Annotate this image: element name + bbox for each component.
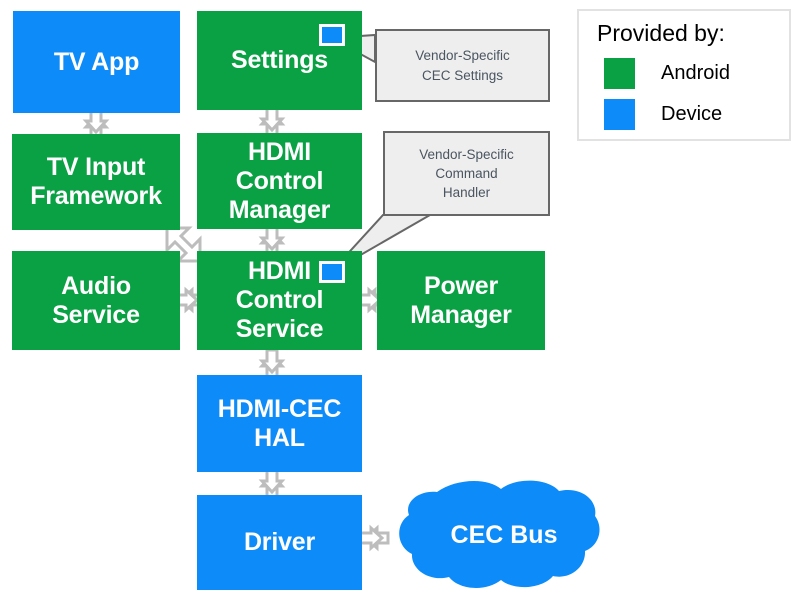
- legend-swatch-android: [604, 58, 635, 89]
- box-tv-input-framework[interactable]: TV Input Framework: [12, 134, 180, 230]
- legend-item-android: Android: [604, 58, 730, 89]
- connector-hdmi-control-manager-hdmi-control-service: [262, 227, 282, 254]
- legend-item-device: Device: [604, 99, 722, 130]
- box-power-manager[interactable]: Power Manager: [377, 251, 545, 350]
- box-hdmi-control-service[interactable]: HDMI Control Service: [197, 251, 362, 350]
- legend-label-device: Device: [661, 103, 722, 126]
- connector-settings-hdmi-control-manager: [262, 108, 282, 135]
- box-audio-service[interactable]: Audio Service: [12, 251, 180, 350]
- diagram-canvas: TV App Settings TV Input Framework HDMI …: [0, 0, 800, 603]
- callout-vendor-cec-settings: Vendor-Specific CEC Settings: [375, 29, 550, 102]
- legend: Provided by: Android Device: [577, 9, 791, 141]
- vendor-badge-settings: [319, 24, 345, 46]
- connector-hdmi-control-service-hdmi-cec-hal: [262, 350, 282, 377]
- legend-title: Provided by:: [597, 20, 725, 47]
- box-tv-app[interactable]: TV App: [13, 11, 180, 113]
- callout-vendor-command-handler: Vendor-Specific Command Handler: [383, 131, 550, 216]
- box-driver[interactable]: Driver: [197, 495, 362, 590]
- callout-vendor-cec-settings-label: Vendor-Specific CEC Settings: [415, 46, 510, 84]
- box-power-manager-label: Power Manager: [406, 272, 515, 330]
- connector-hdmi-cec-hal-driver: [262, 470, 282, 497]
- box-hdmi-cec-hal-label: HDMI-CEC HAL: [214, 395, 345, 453]
- box-settings-label: Settings: [227, 46, 332, 75]
- box-hdmi-control-manager-label: HDMI Control Manager: [225, 138, 334, 225]
- legend-label-android: Android: [661, 62, 730, 85]
- cec-bus-label: CEC Bus: [434, 521, 574, 550]
- box-tv-input-framework-label: TV Input Framework: [26, 153, 166, 211]
- vendor-badge-hdmi-control-service: [319, 261, 345, 283]
- box-hdmi-control-manager[interactable]: HDMI Control Manager: [197, 133, 362, 229]
- box-settings[interactable]: Settings: [197, 11, 362, 110]
- box-hdmi-cec-hal[interactable]: HDMI-CEC HAL: [197, 375, 362, 472]
- legend-swatch-device: [604, 99, 635, 130]
- box-hdmi-control-service-label: HDMI Control Service: [232, 257, 328, 344]
- box-audio-service-label: Audio Service: [48, 272, 144, 330]
- box-driver-label: Driver: [240, 528, 319, 557]
- box-tv-app-label: TV App: [50, 48, 143, 77]
- callout-vendor-command-handler-label: Vendor-Specific Command Handler: [419, 145, 514, 202]
- connector-driver-cec-bus: [360, 528, 388, 548]
